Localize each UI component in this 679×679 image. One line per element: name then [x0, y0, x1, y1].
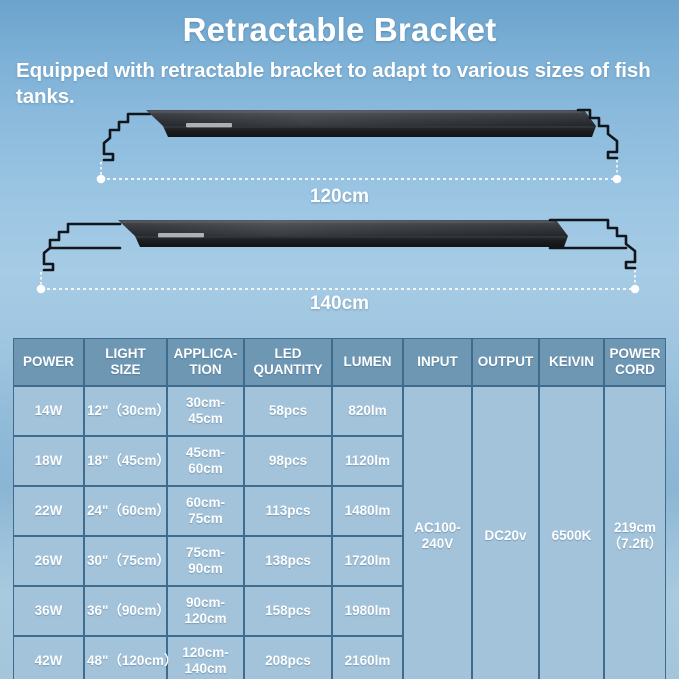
infographic-page: Retractable Bracket Equipped with retrac…: [0, 0, 679, 679]
col-header-keivin-line1: KEIVIN: [542, 354, 601, 370]
cell-light-size: 24"（60cm）: [84, 486, 167, 536]
cell-power: 42W: [13, 636, 84, 679]
col-header-output-line1: OUTPUT: [475, 354, 536, 370]
cell-lumen: 820lm: [332, 386, 403, 436]
col-header-input-line1: INPUT: [406, 354, 469, 370]
col-header-application: APPLICA- TION: [167, 338, 244, 386]
cell-application: 90cm-120cm: [167, 586, 244, 636]
cell-application: 60cm-75cm: [167, 486, 244, 536]
table-row: 14W 12"（30cm） 30cm-45cm 58pcs 820lm AC10…: [13, 386, 666, 436]
col-header-power-cord: POWER CORD: [604, 338, 666, 386]
col-header-led-quantity-line1: LED: [247, 346, 329, 362]
col-header-light-size: LIGHT SIZE: [84, 338, 167, 386]
cell-lumen: 1480lm: [332, 486, 403, 536]
cell-application: 45cm-60cm: [167, 436, 244, 486]
cell-led-quantity: 113pcs: [244, 486, 332, 536]
product-illustration-retracted: [0, 96, 679, 196]
cell-light-size: 18"（45cm）: [84, 436, 167, 486]
cell-application: 75cm-90cm: [167, 536, 244, 586]
cell-light-size: 48"（120cm）: [84, 636, 167, 679]
col-header-lumen-line1: LUMEN: [335, 354, 400, 370]
cell-power: 18W: [13, 436, 84, 486]
col-header-led-quantity-line2: QUANTITY: [247, 362, 329, 378]
cell-power-cord-line2: （7.2ft）: [607, 536, 663, 552]
brand-decal: [186, 123, 232, 127]
light-fixture-body: [118, 220, 568, 247]
cell-power-cord-merged: 219cm （7.2ft）: [604, 386, 666, 679]
cell-input-merged: AC100- 240V: [403, 386, 472, 679]
cell-power: 36W: [13, 586, 84, 636]
cell-power: 14W: [13, 386, 84, 436]
cell-led-quantity: 158pcs: [244, 586, 332, 636]
col-header-output: OUTPUT: [472, 338, 539, 386]
cell-output-merged: DC20v: [472, 386, 539, 679]
col-header-lumen: LUMEN: [332, 338, 403, 386]
cell-light-size: 36"（90cm）: [84, 586, 167, 636]
bracket-arm-left: [104, 114, 150, 160]
dimension-label-140cm: 140cm: [0, 293, 679, 315]
col-header-power-cord-line2: CORD: [607, 362, 663, 378]
col-header-input: INPUT: [403, 338, 472, 386]
col-header-keivin: KEIVIN: [539, 338, 604, 386]
product-illustration-extended: [0, 206, 679, 306]
col-header-power-line1: POWER: [16, 354, 81, 370]
dimension-line-120cm: [97, 160, 622, 183]
cell-power-cord-line1: 219cm: [607, 520, 663, 536]
table-header-row: POWER LIGHT SIZE APPLICA- TION LED QUANT…: [13, 338, 666, 386]
specification-table: POWER LIGHT SIZE APPLICA- TION LED QUANT…: [13, 338, 666, 679]
cell-input-line1: AC100-: [406, 520, 469, 536]
col-header-led-quantity: LED QUANTITY: [244, 338, 332, 386]
page-title: Retractable Bracket: [0, 11, 679, 49]
cell-power: 26W: [13, 536, 84, 586]
cell-lumen: 2160lm: [332, 636, 403, 679]
col-header-application-line2: TION: [170, 362, 241, 378]
cell-power: 22W: [13, 486, 84, 536]
col-header-power: POWER: [13, 338, 84, 386]
cell-light-size: 12"（30cm）: [84, 386, 167, 436]
dimension-label-120cm: 120cm: [0, 186, 679, 208]
light-fixture-body: [146, 110, 596, 137]
dimension-line-140cm: [37, 270, 640, 293]
cell-led-quantity: 138pcs: [244, 536, 332, 586]
cell-application: 30cm-45cm: [167, 386, 244, 436]
brand-decal: [158, 233, 204, 237]
cell-lumen: 1980lm: [332, 586, 403, 636]
cell-keivin-merged: 6500K: [539, 386, 604, 679]
bracket-arm-left-extended: [44, 224, 120, 270]
col-header-application-line1: APPLICA-: [170, 346, 241, 362]
col-header-power-cord-line1: POWER: [607, 346, 663, 362]
cell-light-size: 30"（75cm）: [84, 536, 167, 586]
cell-led-quantity: 58pcs: [244, 386, 332, 436]
cell-lumen: 1720lm: [332, 536, 403, 586]
col-header-light-size-line1: LIGHT: [87, 346, 164, 362]
cell-input-line2: 240V: [406, 536, 469, 552]
cell-led-quantity: 208pcs: [244, 636, 332, 679]
cell-application: 120cm-140cm: [167, 636, 244, 679]
cell-lumen: 1120lm: [332, 436, 403, 486]
col-header-light-size-line2: SIZE: [87, 362, 164, 378]
cell-led-quantity: 98pcs: [244, 436, 332, 486]
